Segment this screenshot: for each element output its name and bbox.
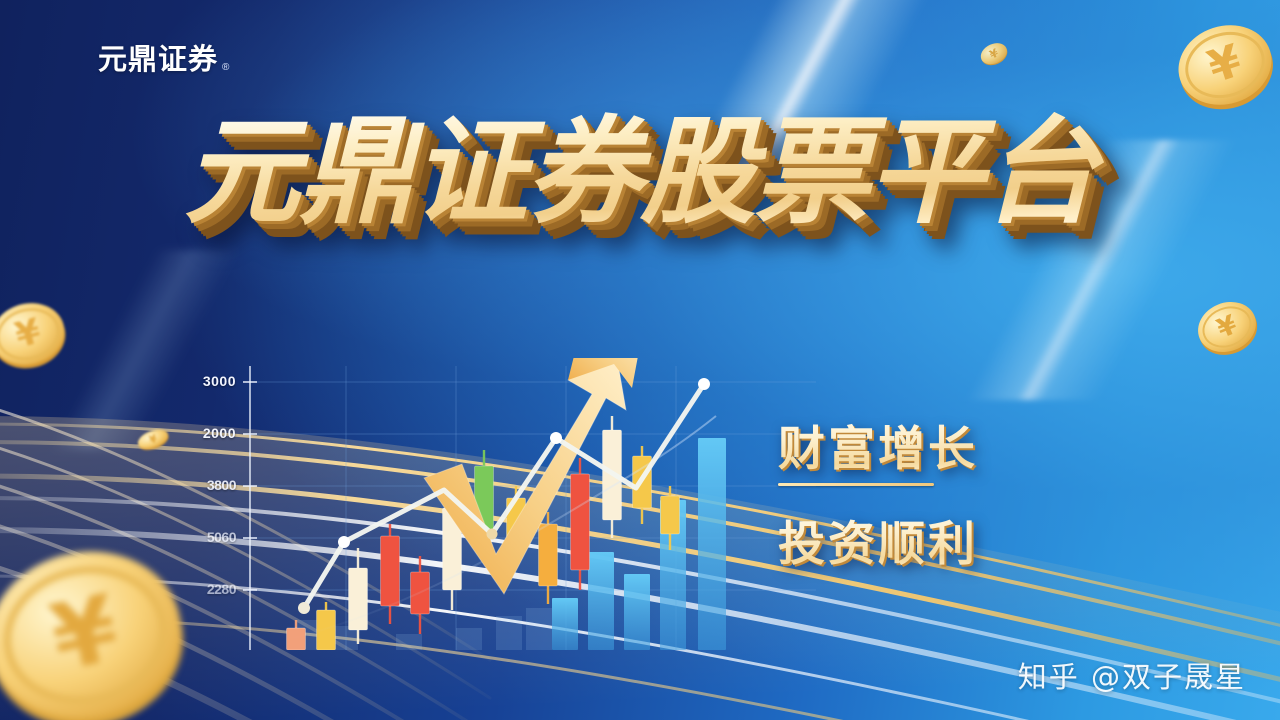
y-axis-tick-label: 2000	[190, 425, 236, 441]
y-axis-tick-label: 3000	[190, 373, 236, 389]
coin-yuan-icon: ¥	[976, 36, 1012, 72]
coin-yuan-icon: ¥	[0, 288, 74, 380]
svg-text:¥: ¥	[1213, 309, 1242, 345]
y-axis-tick-label: 2280	[190, 581, 236, 597]
hero-title-wrap: 元鼎证券股票平台	[0, 112, 1280, 235]
slogan-line-2: 投资顺利	[778, 505, 978, 574]
coin-yuan-icon: ¥	[1188, 288, 1266, 366]
chart-svg	[196, 358, 816, 650]
y-axis-tick-label: 5060	[190, 529, 236, 545]
svg-text:¥: ¥	[42, 574, 127, 692]
watermark: 知乎 @双子晟星	[1018, 654, 1246, 696]
slogan-divider	[778, 483, 934, 486]
coin-yuan-icon: ¥	[0, 520, 200, 720]
coin-yuan-icon: ¥	[1166, 6, 1280, 124]
brand-logo[interactable]: 元鼎证券 ®	[98, 36, 229, 78]
svg-text:¥: ¥	[987, 46, 1000, 62]
slogan-text-1: 财富增长	[778, 410, 978, 479]
stock-chart: 30002000380050602280	[196, 358, 816, 650]
banner-canvas: ¥ ¥ ¥ ¥ ¥	[0, 0, 1280, 720]
page-title: 元鼎证券股票平台	[174, 112, 1106, 235]
slogan-text-2: 投资顺利	[778, 505, 978, 574]
slogan-line-1: 财富增长	[778, 410, 978, 479]
coin-yuan-icon: ¥	[134, 424, 172, 454]
svg-text:¥: ¥	[11, 312, 45, 357]
svg-text:¥: ¥	[148, 433, 160, 447]
brand-logo-text: 元鼎证券	[98, 36, 218, 78]
y-axis-tick-label: 3800	[190, 477, 236, 493]
registered-mark-icon: ®	[222, 62, 229, 73]
svg-text:¥: ¥	[1202, 34, 1248, 94]
